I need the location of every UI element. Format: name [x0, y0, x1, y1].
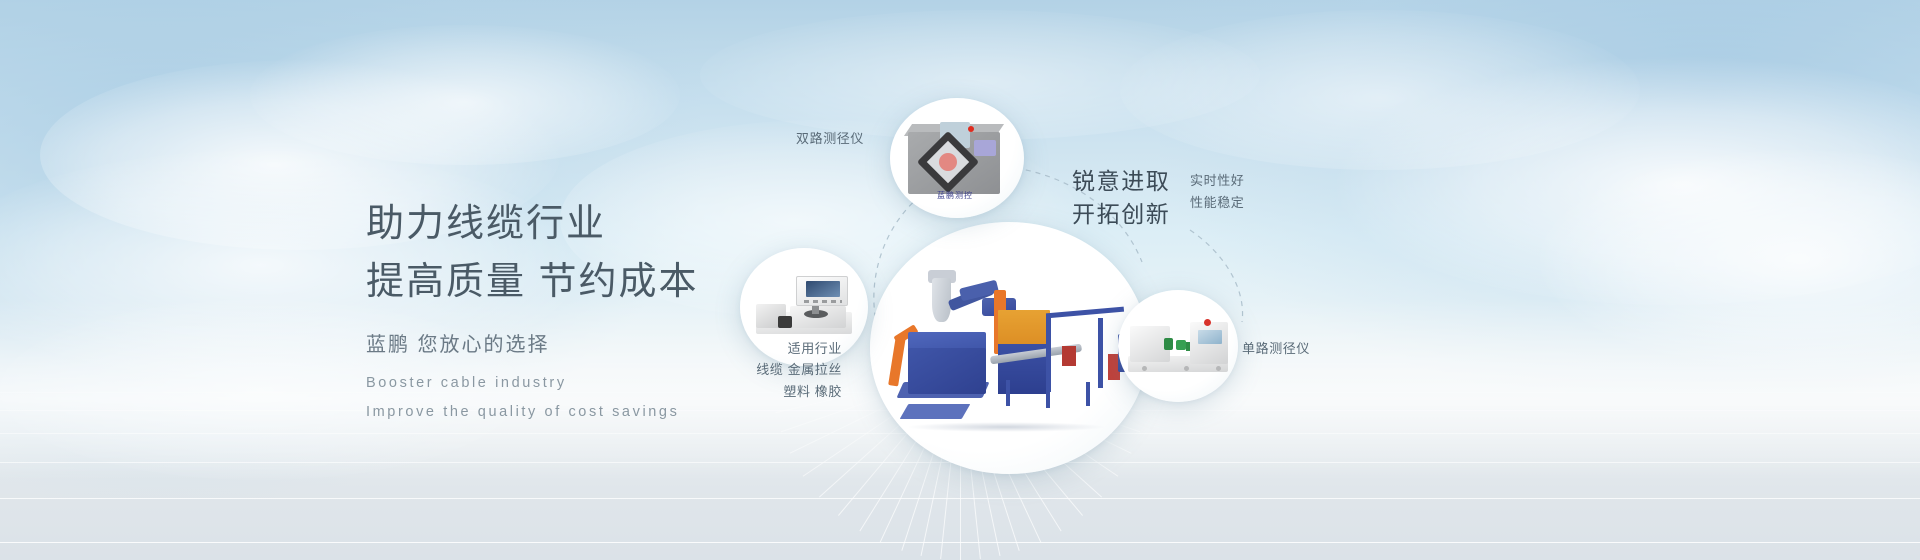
- callout-single-gauge: 单路测径仪: [1242, 338, 1310, 359]
- product-bubble-production-line[interactable]: [870, 222, 1148, 474]
- callout-performance: 实时性好 性能稳定: [1190, 170, 1244, 214]
- brand-slogan-line-2: 开拓创新: [1072, 198, 1170, 231]
- product-brand-mark: 蓝鹏测控: [920, 190, 990, 201]
- hero-banner: 助力线缆行业 提高质量 节约成本 蓝鹏 您放心的选择 Booster cable…: [0, 0, 1920, 560]
- callout-dual-gauge: 双路测径仪: [796, 128, 864, 149]
- callout-performance-line-1: 实时性好: [1190, 170, 1244, 192]
- dual-path-gauge-illustration: 蓝鹏测控: [904, 114, 1012, 206]
- callout-applications-line-1: 线缆 金属拉丝: [722, 359, 842, 380]
- headline-line-1: 助力线缆行业: [366, 196, 926, 254]
- brand-slogan-line-1: 锐意进取: [1072, 165, 1170, 198]
- cable-extrusion-line-illustration: [886, 262, 1136, 437]
- brand-slogan: 锐意进取 开拓创新: [1072, 165, 1170, 232]
- cloud-icon: [250, 25, 680, 165]
- callout-applications-title: 适用行业: [722, 338, 842, 359]
- product-bubble-single-gauge[interactable]: [1118, 290, 1238, 402]
- english-tagline-2: Improve the quality of cost savings: [366, 398, 926, 427]
- callout-applications-line-2: 塑料 橡胶: [722, 381, 842, 402]
- measuring-instrument-illustration: [756, 276, 856, 342]
- english-tagline-1: Booster cable industry: [366, 369, 926, 398]
- callout-applications: 适用行业 线缆 金属拉丝 塑料 橡胶: [722, 338, 842, 402]
- product-bubble-dual-gauge[interactable]: 蓝鹏测控: [890, 98, 1024, 218]
- callout-performance-line-2: 性能稳定: [1190, 192, 1244, 214]
- single-path-gauge-illustration: [1128, 316, 1232, 378]
- product-composition: 蓝鹏测控: [860, 0, 1920, 560]
